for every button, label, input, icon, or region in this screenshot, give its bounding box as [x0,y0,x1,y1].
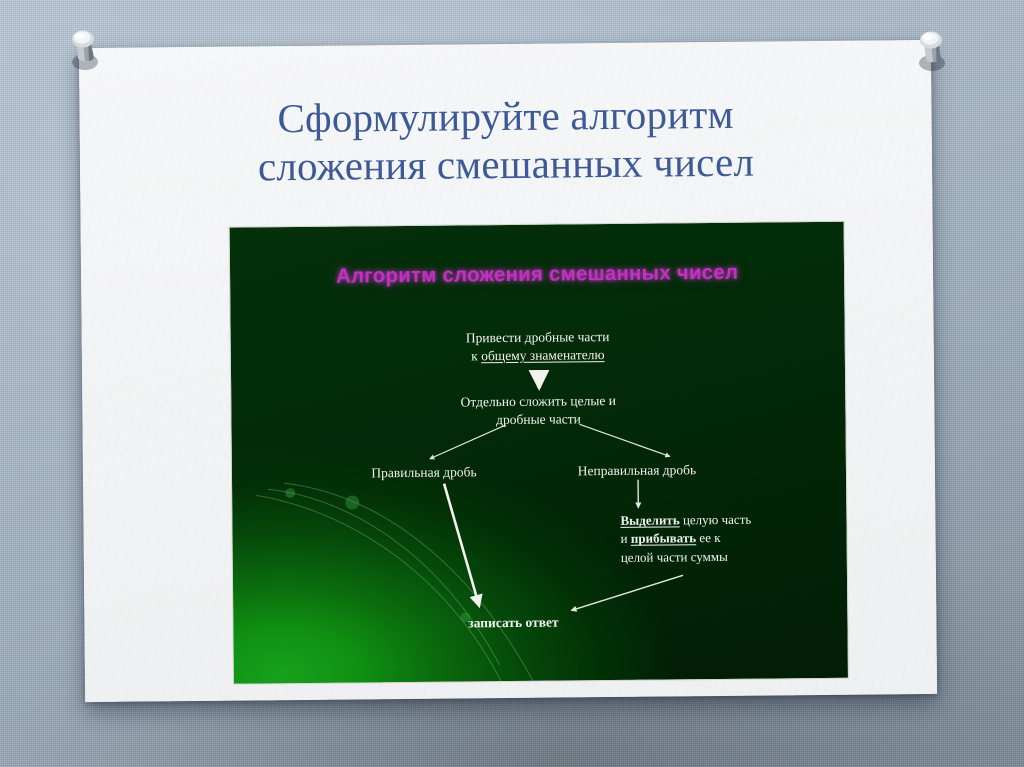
arrow-branch-proper [430,425,506,459]
extract-bold-vydelit: Выделить [620,512,679,528]
slide-canvas: Сформулируйте алгоритм сложения смешанны… [0,0,1024,767]
denominator-line-2-underlined: общему знаменателю [481,347,604,363]
extract-bold-pribyvat: прибывать [631,531,696,547]
node-extract-whole-part: Выделить целую часть и прибывать ее к це… [620,510,836,567]
node-improper-fraction: Неправильная дробь [532,461,742,481]
denominator-line-1: Привести дробные части [466,329,610,345]
algorithm-figure: Алгоритм сложения смешанных чисел [229,221,849,685]
addparts-line-1: Отдельно сложить целые и [461,393,616,409]
page-title: Сформулируйте алгоритм сложения смешанны… [79,88,932,193]
extract-text-3: ее к [696,530,721,545]
extract-text-4: целой части суммы [621,549,728,565]
node-write-answer: записать ответ [413,613,613,633]
figure-heading: Алгоритм сложения смешанных чисел [230,260,844,290]
title-line-2: сложения смешанных чисел [102,137,910,193]
paper-sheet: Сформулируйте алгоритм сложения смешанны… [79,40,937,702]
addparts-line-2: дробные части [496,411,581,427]
node-common-denominator: Привести дробные части к общему знаменат… [231,326,845,368]
denominator-line-2-prefix: к [471,348,481,363]
arrow-extract-to-answer [571,575,683,610]
node-proper-fraction: Правильная дробь [334,463,514,483]
extract-text-2: и [621,531,631,546]
arrow-branch-improper [580,423,670,457]
extract-text-1: целую часть [680,512,752,528]
arrow-proper-to-answer [444,483,479,606]
title-line-1: Сформулируйте алгоритм [101,88,909,144]
node-add-parts: Отдельно сложить целые и дробные части [231,390,845,432]
